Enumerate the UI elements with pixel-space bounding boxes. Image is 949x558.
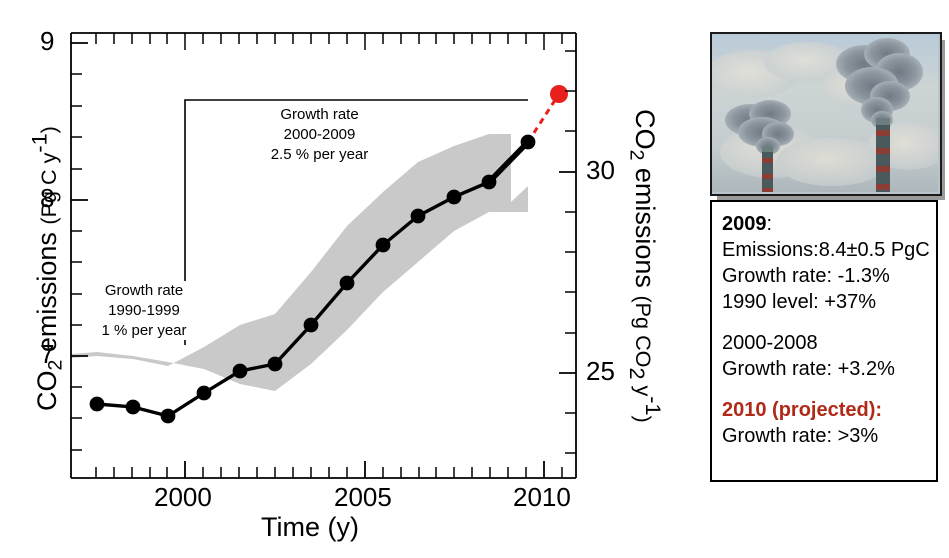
- y-right-title-unit-sub: 2: [625, 367, 650, 379]
- x-tick-label-2010: 2010: [513, 482, 571, 513]
- smokestack-photo: [710, 32, 942, 196]
- chart-panel: 9 8 7 30 25 2000 2005 2010 CO2 emissions…: [0, 0, 690, 558]
- uncertainty-band: [71, 134, 528, 391]
- y-right-title-unit: (Pg CO: [631, 295, 656, 367]
- x-axis-title: Time (y): [70, 512, 550, 543]
- y-right-title-co: CO: [630, 109, 660, 150]
- infobox-spacer-2: [722, 382, 936, 397]
- y-axis-right-minor-ticks: [565, 51, 576, 453]
- y-right-title-sub: 2: [626, 150, 648, 161]
- infobox-growth-rate-2009: Growth rate: -1.3%: [722, 263, 936, 289]
- infobox-emissions: Emissions:8.4±0.5 PgC: [722, 237, 936, 263]
- projected-2010-point: [550, 85, 568, 103]
- y-left-title-co: CO: [32, 370, 62, 411]
- y-right-title-unit-end: ): [631, 415, 656, 422]
- infobox-1990-level: 1990 level: +37%: [722, 289, 936, 315]
- y-right-title-unit-y: y: [631, 379, 656, 396]
- annotation-2000-line1: Growth rate: [237, 105, 402, 125]
- y-left-title-rest: emissions: [32, 232, 62, 360]
- annotation-growth-1990-1999: Growth rate 1990-1999 1 % per year: [84, 281, 204, 340]
- infobox-growth-rate-2000-2008: Growth rate: +3.2%: [722, 356, 936, 382]
- emissions-line-chart: [0, 0, 690, 558]
- y-left-title-unit: (Pg C y: [36, 153, 61, 225]
- y-left-title-unit-end: ): [36, 126, 61, 133]
- y-axis-right-major-ticks: [559, 172, 576, 373]
- infobox-year-2010-projected: 2010 (projected):: [722, 397, 936, 423]
- infobox-year-2009-colon: :: [767, 213, 773, 235]
- annotation-1990-line2: 1990-1999: [84, 301, 204, 321]
- annotation-2000-line3: 2.5 % per year: [237, 145, 402, 165]
- y-right-title-unit-sup: -1: [641, 396, 666, 415]
- infobox-year-2009-row: 2009:: [722, 211, 936, 237]
- y-right-tick-label-25: 25: [586, 356, 615, 387]
- annotation-growth-2000-2009: Growth rate 2000-2009 2.5 % per year: [237, 105, 402, 164]
- right-column: 2009: Emissions:8.4±0.5 PgC Growth rate:…: [705, 28, 945, 488]
- y-right-title-rest: emissions: [630, 160, 660, 288]
- x-tick-label-2000: 2000: [154, 482, 212, 513]
- figure-root: 9 8 7 30 25 2000 2005 2010 CO2 emissions…: [0, 0, 949, 558]
- y-left-title-sub: 2: [45, 360, 67, 371]
- chimney-left: [762, 146, 773, 192]
- annotation-1990-line3: 1 % per year: [84, 321, 204, 341]
- x-tick-label-2005: 2005: [334, 482, 392, 513]
- y-right-tick-label-30: 30: [586, 155, 615, 186]
- y-axis-right-title: CO2 emissions (Pg CO2 y-1): [624, 51, 666, 481]
- y-tick-label-9: 9: [40, 26, 54, 57]
- y-left-title-unit-sup: -1: [26, 133, 51, 152]
- statistics-infobox: 2009: Emissions:8.4±0.5 PgC Growth rate:…: [710, 200, 938, 482]
- infobox-spacer-1: [722, 315, 936, 330]
- annotation-1990-line1: Growth rate: [84, 281, 204, 301]
- y-axis-left-title: CO2 emissions (Pg C y-1): [26, 54, 67, 484]
- x-axis-minor-ticks: [96, 467, 562, 478]
- infobox-period-2000-2008: 2000-2008: [722, 330, 936, 356]
- projection-line: [528, 97, 557, 142]
- smokestack-photo-graphic: [712, 34, 938, 192]
- infobox-year-2009: 2009: [722, 213, 767, 235]
- annotation-2000-line2: 2000-2009: [237, 125, 402, 145]
- y-axis-left-minor-ticks: [71, 74, 82, 450]
- infobox-growth-rate-2010: Growth rate: >3%: [722, 423, 936, 449]
- chimney-right: [876, 118, 890, 192]
- x-axis-top-ticks: [96, 33, 562, 50]
